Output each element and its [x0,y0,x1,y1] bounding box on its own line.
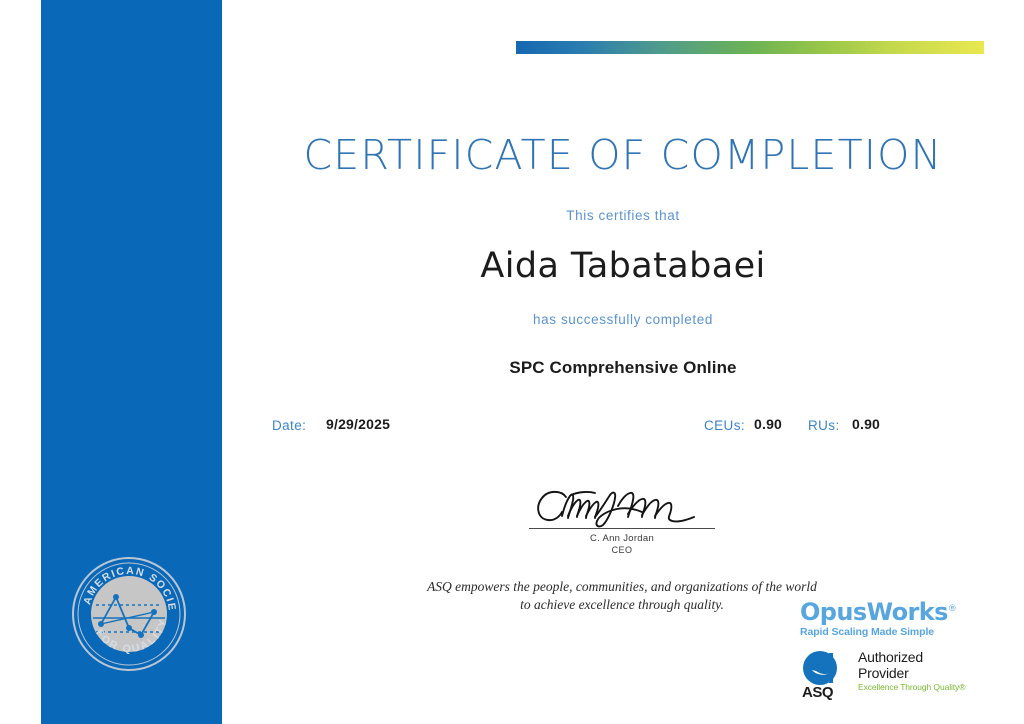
opusworks-wordmark-works: Works [867,598,948,626]
asq-provider-text-block: Authorized Provider Excellence Through Q… [858,650,965,692]
asq-seal-logo: AMERICAN SOCIETY FOR QUALITY [71,556,187,672]
signature-block: C. Ann Jordan CEO [477,486,767,555]
asq-q-mark-icon: ASQ [800,650,852,700]
asq-provider-tagline: Excellence Through Quality® [858,682,965,692]
signature-rule [529,528,715,529]
mission-line-1: ASQ empowers the people, communities, an… [352,578,892,596]
rus-value: 0.90 [852,416,880,432]
ceus-label: CEUs: [704,418,745,433]
certificate-page: AMERICAN SOCIETY FOR QUALITY CERTIFICATE… [0,0,1024,724]
opusworks-wordmark-opus: Opus [800,598,867,626]
asq-provider-line-2: Provider [858,666,965,682]
opusworks-logo: OpusWorks® Rapid Scaling Made Simple [800,596,970,638]
ceus-value: 0.90 [754,416,782,432]
signer-title: CEO [477,545,767,555]
opusworks-wordmark: OpusWorks® [800,596,970,625]
date-label: Date: [272,418,306,433]
course-name: SPC Comprehensive Online [222,358,1024,378]
rus-label: RUs: [808,418,840,433]
opusworks-trademark-icon: ® [948,604,956,614]
certificate-content: CERTIFICATE OF COMPLETION This certifies… [222,0,1024,724]
opusworks-tagline: Rapid Scaling Made Simple [800,626,970,638]
date-value: 9/29/2025 [326,416,390,432]
page-title: CERTIFICATE OF COMPLETION [222,131,1024,179]
recipient-name: Aida Tabatabaei [222,246,1024,286]
handwritten-signature-icon [477,486,767,528]
completed-line: has successfully completed [222,312,1024,327]
svg-text:ASQ: ASQ [802,684,834,700]
certificate-meta-row: Date: 9/29/2025 CEUs: 0.90 RUs: 0.90 [222,416,1024,438]
certifies-line: This certifies that [222,208,1024,223]
asq-authorized-provider-logo: ASQ Authorized Provider Excellence Throu… [800,650,990,702]
signer-name: C. Ann Jordan [477,533,767,544]
asq-provider-line-1: Authorized [858,650,965,666]
